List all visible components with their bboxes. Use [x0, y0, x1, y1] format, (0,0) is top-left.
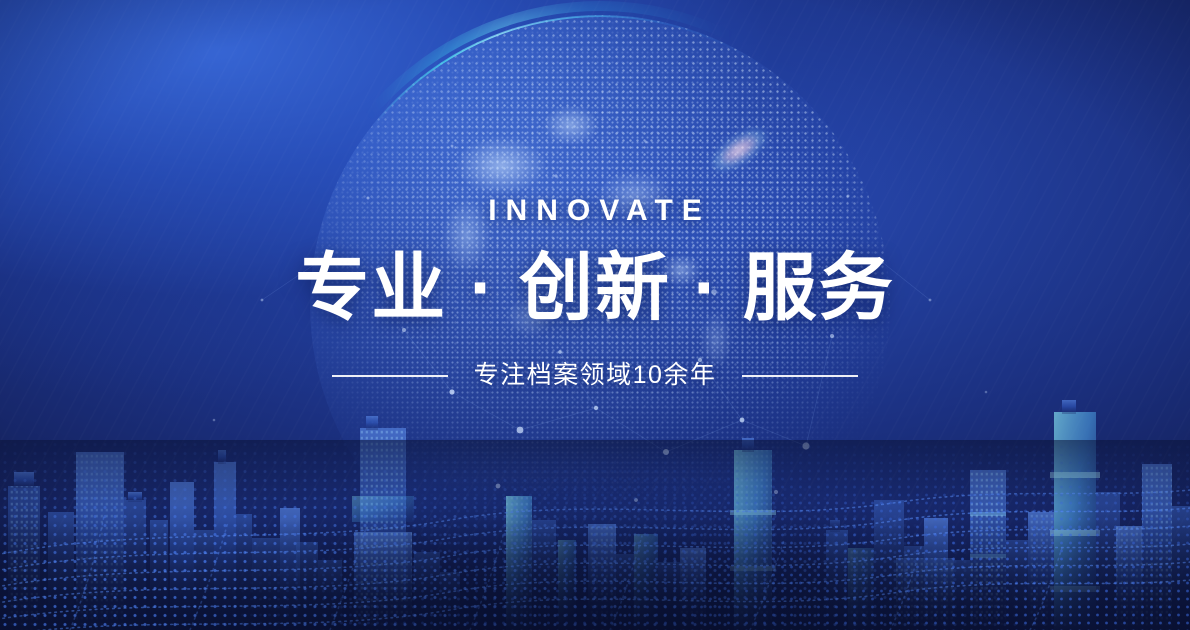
rule-right-decoration — [742, 375, 858, 377]
eyebrow-text: INNOVATE — [0, 196, 1190, 226]
page-title: 专业 · 创新 · 服务 — [0, 248, 1190, 328]
hero-banner: INNOVATE 专业 · 创新 · 服务 专注档案领域10余年 — [0, 0, 1190, 630]
subline-row: 专注档案领域10余年 — [0, 363, 1190, 388]
subtitle-text: 专注档案领域10余年 — [474, 363, 717, 388]
rule-left-decoration — [332, 375, 448, 377]
